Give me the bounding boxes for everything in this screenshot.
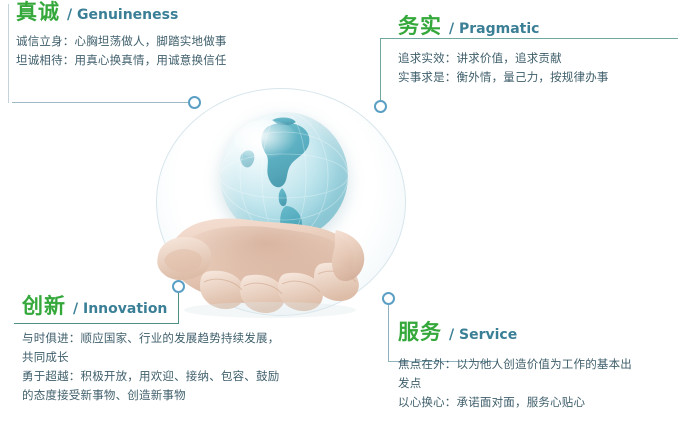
panel-service-title-cn: 服务 [398, 320, 442, 344]
panel-innovation-title-en: / Innovation [73, 301, 167, 317]
connector-line-genuineness-vertical [8, 4, 9, 103]
panel-pragmatic-title-cn: 务实 [398, 14, 442, 38]
panel-pragmatic-line-1: 追求实效：讲求价值，追求贡献 [398, 49, 670, 68]
values-infographic: 真诚/ Genuineness 诚信立身：心胸坦荡做人，脚踏实地做事 坦诚相待：… [0, 0, 678, 436]
connector-node-service [382, 292, 395, 305]
panel-service-line-1: 焦点在外：以为他人创造价值为工作的基本出 [398, 355, 670, 374]
panel-pragmatic-title-en: / Pragmatic [449, 21, 539, 37]
panel-pragmatic: 务实/ Pragmatic 追求实效：讲求价值，追求贡献 实事求是：衡外情，量己… [398, 16, 670, 87]
panel-genuineness-line-2: 坦诚相待：用真心换真情，用诚意换信任 [16, 51, 346, 70]
panel-genuineness-title-en: / Genuineness [67, 7, 178, 23]
panel-genuineness-line-1: 诚信立身：心胸坦荡做人，脚踏实地做事 [16, 32, 346, 51]
panel-service: 服务/ Service 焦点在外：以为他人创造价值为工作的基本出 发点 以心换心… [398, 322, 670, 412]
panel-innovation-title: 创新/ Innovation [22, 296, 322, 317]
panel-innovation-line-3: 勇于超越：积极开放，用欢迎、接纳、包容、鼓励 [22, 367, 322, 386]
panel-service-title-en: / Service [449, 327, 517, 343]
connector-node-genuineness [188, 96, 201, 109]
panel-genuineness-title: 真诚/ Genuineness [16, 2, 346, 23]
panel-service-line-3: 以心换心：承诺面对面，服务心贴心 [398, 393, 670, 412]
panel-genuineness-title-cn: 真诚 [16, 0, 60, 24]
panel-genuineness-body: 诚信立身：心胸坦荡做人，脚踏实地做事 坦诚相待：用真心换真情，用诚意换信任 [16, 32, 346, 70]
panel-pragmatic-line-2: 实事求是：衡外情，量己力，按规律办事 [398, 68, 670, 87]
panel-pragmatic-title: 务实/ Pragmatic [398, 16, 670, 37]
panel-genuineness: 真诚/ Genuineness 诚信立身：心胸坦荡做人，脚踏实地做事 坦诚相待：… [16, 2, 346, 70]
panel-service-line-2: 发点 [398, 374, 670, 393]
panel-innovation-title-cn: 创新 [22, 294, 66, 318]
panel-innovation-line-1: 与时俱进：顺应国家、行业的发展趋势持续发展， [22, 329, 322, 348]
hand-holding-globe-artwork [150, 88, 414, 320]
panel-pragmatic-body: 追求实效：讲求价值，追求贡献 实事求是：衡外情，量己力，按规律办事 [398, 49, 670, 87]
panel-innovation-line-2: 共同成长 [22, 348, 322, 367]
connector-node-innovation [172, 280, 185, 293]
panel-innovation: 创新/ Innovation 与时俱进：顺应国家、行业的发展趋势持续发展， 共同… [22, 296, 322, 405]
panel-service-body: 焦点在外：以为他人创造价值为工作的基本出 发点 以心换心：承诺面对面，服务心贴心 [398, 355, 670, 412]
panel-innovation-body: 与时俱进：顺应国家、行业的发展趋势持续发展， 共同成长 勇于超越：积极开放，用欢… [22, 329, 322, 405]
panel-service-title: 服务/ Service [398, 322, 670, 343]
connector-node-pragmatic [374, 100, 387, 113]
panel-innovation-line-4: 的态度接受新事物、创造新事物 [22, 386, 322, 405]
